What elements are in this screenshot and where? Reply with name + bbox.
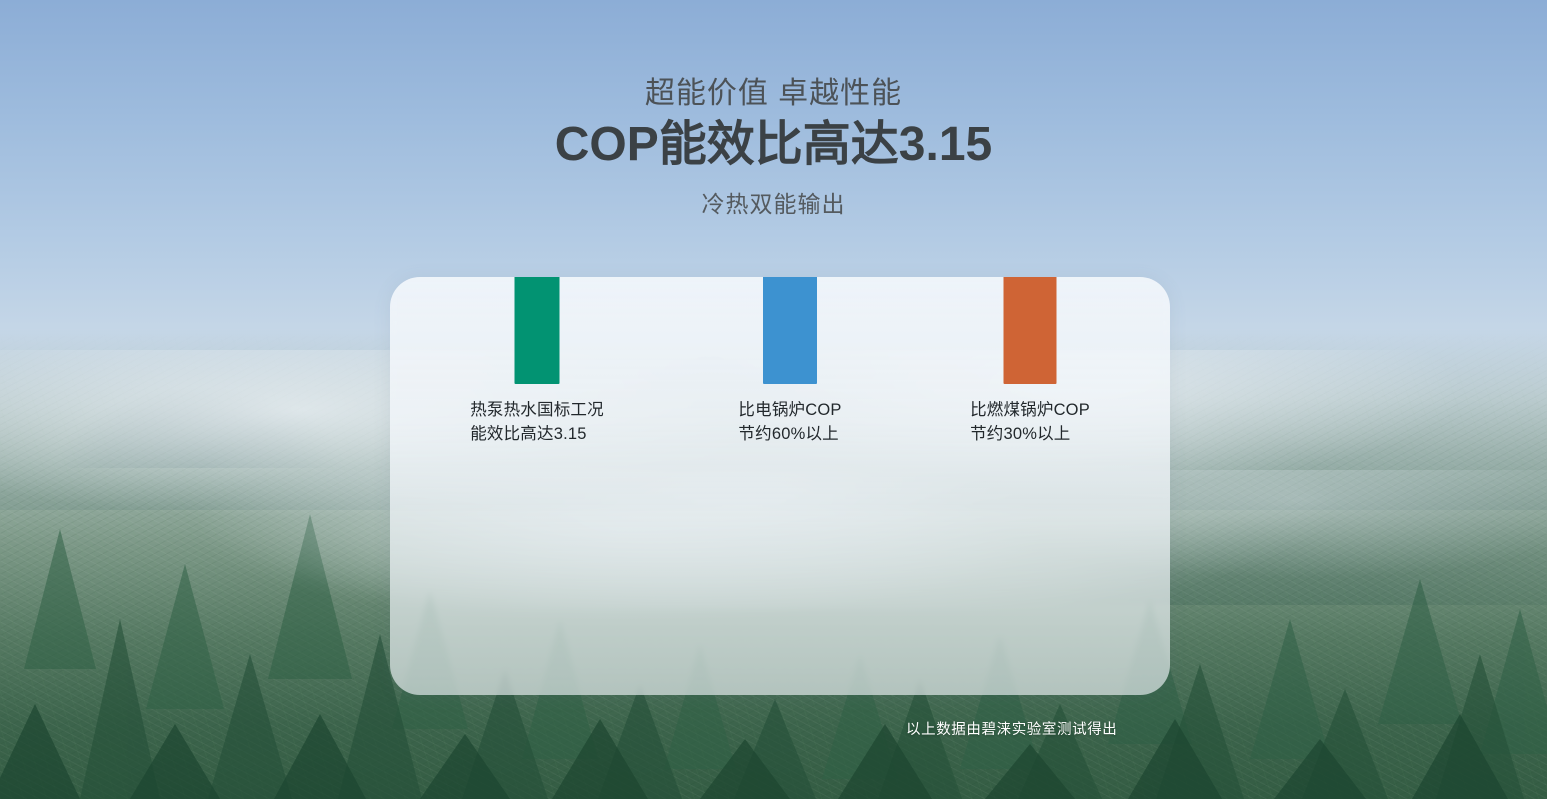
subtitle-text: 冷热双能输出 [0,185,1547,219]
bar-chart: 3.15热泵热水国标工况能效比高达3.1560%比电锅炉COP节约60%以上30… [390,277,1170,695]
eyebrow-text: 超能价值 卓越性能 [0,76,1547,111]
bar-label-line1: 热泵热水国标工况 [470,399,604,423]
bar-category-label: 热泵热水国标工况能效比高达3.15 [470,399,604,447]
bar-label-line2: 能效比高达3.15 [470,423,604,447]
bar-rect [1004,277,1057,384]
headline-block: 超能价值 卓越性能 COP能效比高达3.15 冷热双能输出 [0,76,1547,219]
bar-label-line1: 比燃煤锅炉COP [970,399,1090,423]
bar-label-line2: 节约30%以上 [970,423,1090,447]
bar-category-label: 比燃煤锅炉COP节约30%以上 [970,399,1090,447]
chart-card: 3.15热泵热水国标工况能效比高达3.1560%比电锅炉COP节约60%以上30… [390,277,1170,695]
footnote-text: 以上数据由碧涞实验室测试得出 [906,718,1117,739]
chart-card-inner: 3.15热泵热水国标工况能效比高达3.1560%比电锅炉COP节约60%以上30… [390,277,1170,695]
bar-rect [515,277,560,384]
page-title: COP能效比高达3.15 [0,117,1547,173]
bar-label-line2: 节约60%以上 [738,423,841,447]
bar-label-line1: 比电锅炉COP [738,399,841,423]
bar-category-label: 比电锅炉COP节约60%以上 [738,399,841,447]
bar-rect [763,277,817,384]
promo-banner: 超能价值 卓越性能 COP能效比高达3.15 冷热双能输出 3.15热泵热水国标… [0,0,1547,799]
